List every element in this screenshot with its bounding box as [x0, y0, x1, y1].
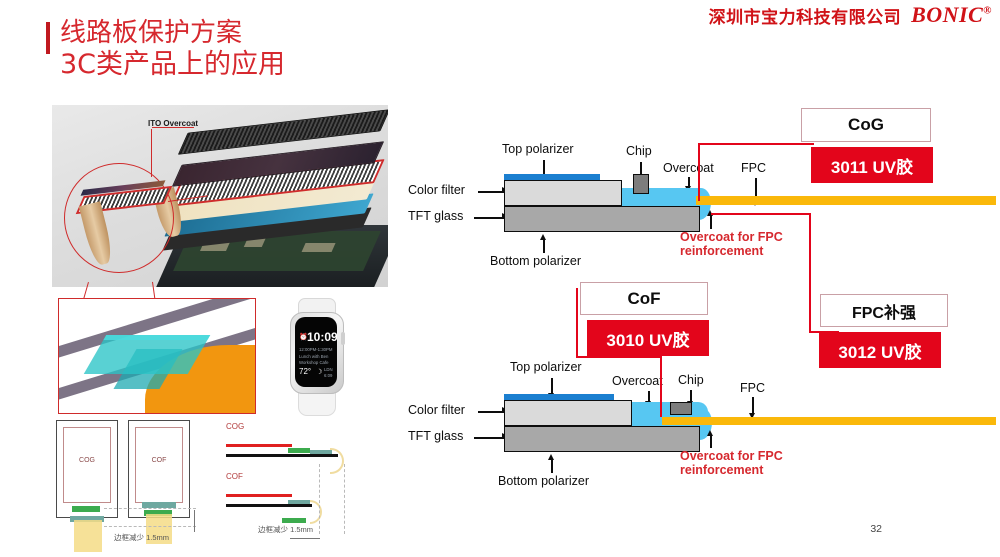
- cog-connector-vertical: [698, 143, 700, 201]
- watch-event-title: Lunch with Ben: [299, 354, 328, 359]
- label-overcoat-reinforcement: Overcoat for FPC reinforcement: [680, 230, 783, 258]
- cog-reference-dash: [344, 464, 345, 534]
- tft-glass-layer: [504, 426, 700, 452]
- phone-screen-cog: [63, 427, 111, 503]
- cog-title-box[interactable]: CoG: [801, 108, 931, 142]
- cof-reference-dash: [319, 464, 320, 534]
- line-dimension-note: 边框减少 1.5mm: [258, 524, 313, 535]
- title-line-2: 3C类产品上的应用: [60, 49, 285, 80]
- ito-leader-line: [151, 129, 152, 177]
- cog-connector-horizontal: [698, 143, 814, 145]
- label-overcoat: Overcoat: [612, 374, 663, 388]
- cog-green-pad: [72, 506, 100, 512]
- reference-dash-bottom: [104, 526, 196, 527]
- watch-screen: ⏰ 10:09 12:00PM-1:30PM Lunch with Ben Wo…: [295, 317, 337, 387]
- reinforcement-line-2: reinforcement: [680, 463, 763, 477]
- cog-cof-line-diagram: COG COF 边框减少 1.5mm: [218, 420, 390, 552]
- bezel-comparison-diagram: COG COF 边框减少 1.5mm: [56, 420, 216, 552]
- page-title: 线路板保护方案 3C类产品上的应用: [46, 18, 285, 80]
- registered-mark: ®: [983, 5, 992, 17]
- cog-product-label: 3011 UV胶: [831, 153, 913, 178]
- cof-title-label: CoF: [627, 289, 660, 309]
- cog-black-line: [226, 454, 338, 457]
- line-dimension-arrow: [290, 538, 320, 539]
- arrow-stem-color-filter: [478, 411, 504, 413]
- title-accent-bar: [46, 22, 50, 54]
- label-bottom-polarizer: Bottom polarizer: [490, 254, 581, 268]
- cog-red-line: [226, 444, 292, 447]
- watch-location: LDN: [324, 367, 333, 372]
- cog-teal-pad-line: [310, 450, 332, 454]
- phone-label-cof: COF: [129, 457, 189, 464]
- brand-logo: BONIC®: [911, 2, 992, 28]
- cog-fpc-bend: [330, 448, 344, 474]
- fpc-product-box[interactable]: 3012 UV胶: [819, 332, 941, 368]
- cof-bracket-horizontal: [576, 356, 662, 358]
- watch-crown: [341, 332, 345, 345]
- cof-product-box[interactable]: 3010 UV胶: [587, 320, 709, 356]
- moon-icon: ☽: [316, 368, 322, 376]
- title-line-1: 线路板保护方案: [60, 18, 285, 49]
- label-chip: Chip: [678, 373, 704, 387]
- label-fpc: FPC: [740, 381, 765, 395]
- ito-leader-line: [152, 127, 194, 128]
- phone-label-cog: COG: [57, 457, 117, 464]
- smartwatch-image: ⏰ 10:09 12:00PM-1:30PM Lunch with Ben Wo…: [278, 302, 354, 410]
- label-bottom-polarizer: Bottom polarizer: [498, 474, 589, 488]
- arrow-stem-color-filter: [478, 191, 504, 193]
- cof-cross-section-diagram: Top polarizer Overcoat Chip FPC Color fi…: [400, 350, 1000, 500]
- cross-section-illustration: [58, 298, 256, 414]
- label-tft-glass: TFT glass: [408, 209, 463, 223]
- watch-temperature: 72°: [299, 367, 311, 376]
- watch-time: 10:09: [307, 330, 337, 344]
- fpc-layer: [696, 196, 996, 205]
- page-number: 32: [870, 523, 882, 535]
- fpc-title-label: FPC补强: [852, 299, 916, 323]
- dimension-tick: [194, 510, 196, 532]
- fpc-layer: [662, 417, 996, 425]
- cof-bracket-vertical: [576, 288, 578, 358]
- fpc-connector-horizontal-top: [711, 213, 811, 215]
- cof-red-line: [226, 494, 292, 497]
- watch-location-time: 6:09: [324, 373, 332, 378]
- label-chip: Chip: [626, 144, 652, 158]
- cof-teal-pad-line: [288, 500, 310, 504]
- cog-green-pad-line: [288, 448, 310, 453]
- arrow-stem-bottom-polarizer: [551, 459, 553, 473]
- cog-fpc-shape: [74, 520, 102, 552]
- label-color-filter: Color filter: [408, 183, 465, 197]
- arrow-stem-tft-glass: [474, 217, 504, 219]
- phone-outline-cog: COG: [56, 420, 118, 518]
- fpc-title-box[interactable]: FPC补强: [820, 294, 948, 327]
- fpc-connector-vertical: [809, 213, 811, 333]
- tft-glass-layer: [504, 206, 700, 232]
- fpc-product-label: 3012 UV胶: [838, 338, 921, 363]
- label-overcoat: Overcoat: [663, 161, 714, 175]
- label-tft-glass: TFT glass: [408, 429, 463, 443]
- label-fpc: FPC: [741, 161, 766, 175]
- arrow-stem-reinforcement: [710, 215, 712, 229]
- watch-event-place: Workshop Cafe: [299, 360, 329, 365]
- chip-block: [670, 402, 692, 415]
- pcb-chip: [302, 243, 336, 252]
- cof-fpc-bend: [310, 500, 322, 524]
- cof-black-line: [226, 504, 312, 507]
- line-diagram-label-cof: COF: [226, 472, 243, 481]
- cof-connector-vertical: [660, 355, 662, 417]
- label-overcoat-reinforcement: Overcoat for FPC reinforcement: [680, 449, 783, 477]
- watch-event-time: 12:00PM-1:30PM: [299, 347, 332, 352]
- reinforcement-line-1: Overcoat for FPC: [680, 230, 783, 244]
- label-color-filter: Color filter: [408, 403, 465, 417]
- label-top-polarizer: Top polarizer: [510, 360, 582, 374]
- phone-screen-cof: [135, 427, 183, 503]
- color-filter-layer: [504, 180, 622, 206]
- cof-product-label: 3010 UV胶: [606, 326, 689, 351]
- company-name: 深圳市宝力科技有限公司: [709, 3, 902, 28]
- cof-title-box[interactable]: CoF: [580, 282, 708, 315]
- company-header: 深圳市宝力科技有限公司 BONIC®: [709, 2, 992, 28]
- exploded-display-stack-image: ITO Overcoat: [52, 105, 388, 287]
- color-filter-layer: [504, 400, 632, 426]
- arrow-stem-bottom-polarizer: [543, 239, 545, 253]
- chip-block: [633, 174, 649, 194]
- cog-title-label: CoG: [848, 115, 884, 135]
- cof-green-pad-line: [282, 518, 306, 523]
- arrow-stem-tft-glass: [474, 437, 504, 439]
- label-top-polarizer: Top polarizer: [502, 142, 574, 156]
- line-diagram-label-cog: COG: [226, 422, 244, 431]
- reference-dash-top: [104, 508, 196, 509]
- bezel-dimension-note: 边框减少 1.5mm: [114, 532, 169, 543]
- magnifier-circle: [64, 163, 174, 273]
- brand-logo-text: BONIC: [911, 2, 983, 27]
- reinforcement-line-1: Overcoat for FPC: [680, 449, 783, 463]
- reinforcement-line-2: reinforcement: [680, 244, 763, 258]
- cog-product-box[interactable]: 3011 UV胶: [811, 147, 933, 183]
- arrow-stem-reinforcement: [710, 435, 712, 448]
